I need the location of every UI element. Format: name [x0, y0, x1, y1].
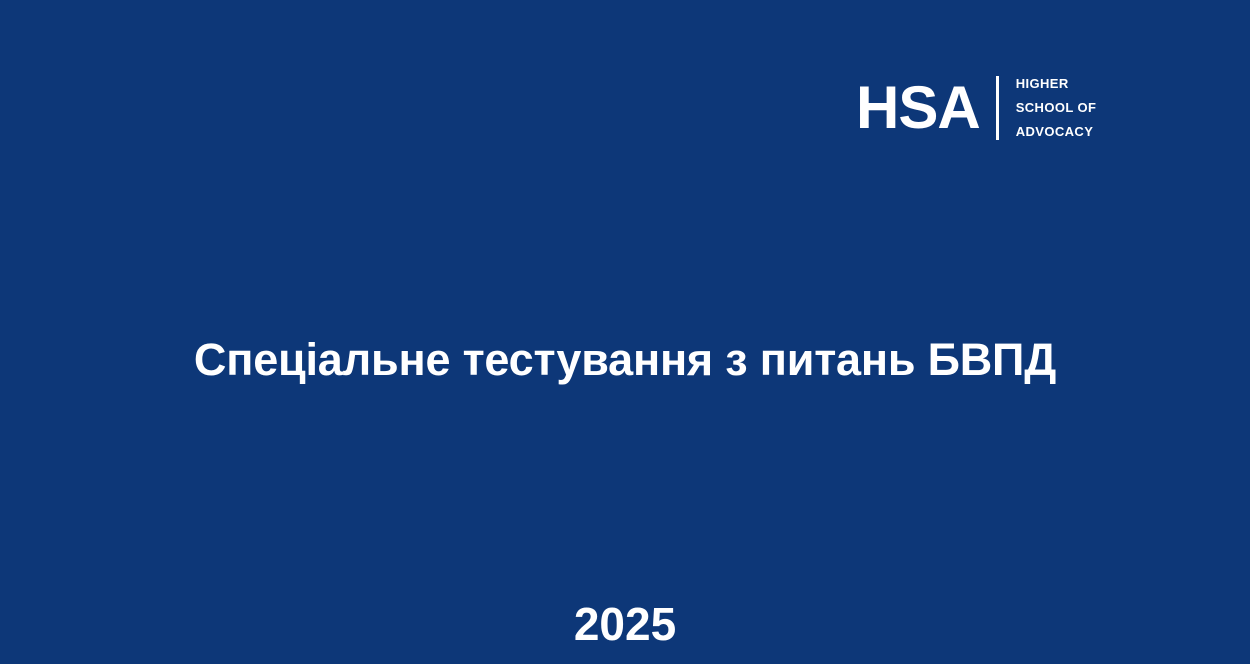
title-slide: HSA HIGHER SCHOOL OF ADVOCACY Спеціальне… [0, 0, 1250, 664]
hsa-logo: HSA HIGHER SCHOOL OF ADVOCACY [856, 76, 1096, 140]
logo-divider-icon [996, 76, 999, 140]
logo-wordmark: HSA [856, 76, 980, 140]
logo-tagline-line-2: SCHOOL OF [1016, 96, 1097, 120]
page-title: Спеціальне тестування з питань БВПД [0, 332, 1250, 388]
logo-tagline-line-3: ADVOCACY [1016, 120, 1097, 144]
slide-year: 2025 [0, 598, 1250, 650]
logo-tagline-line-1: HIGHER [1016, 72, 1097, 96]
logo-tagline: HIGHER SCHOOL OF ADVOCACY [1016, 76, 1097, 140]
